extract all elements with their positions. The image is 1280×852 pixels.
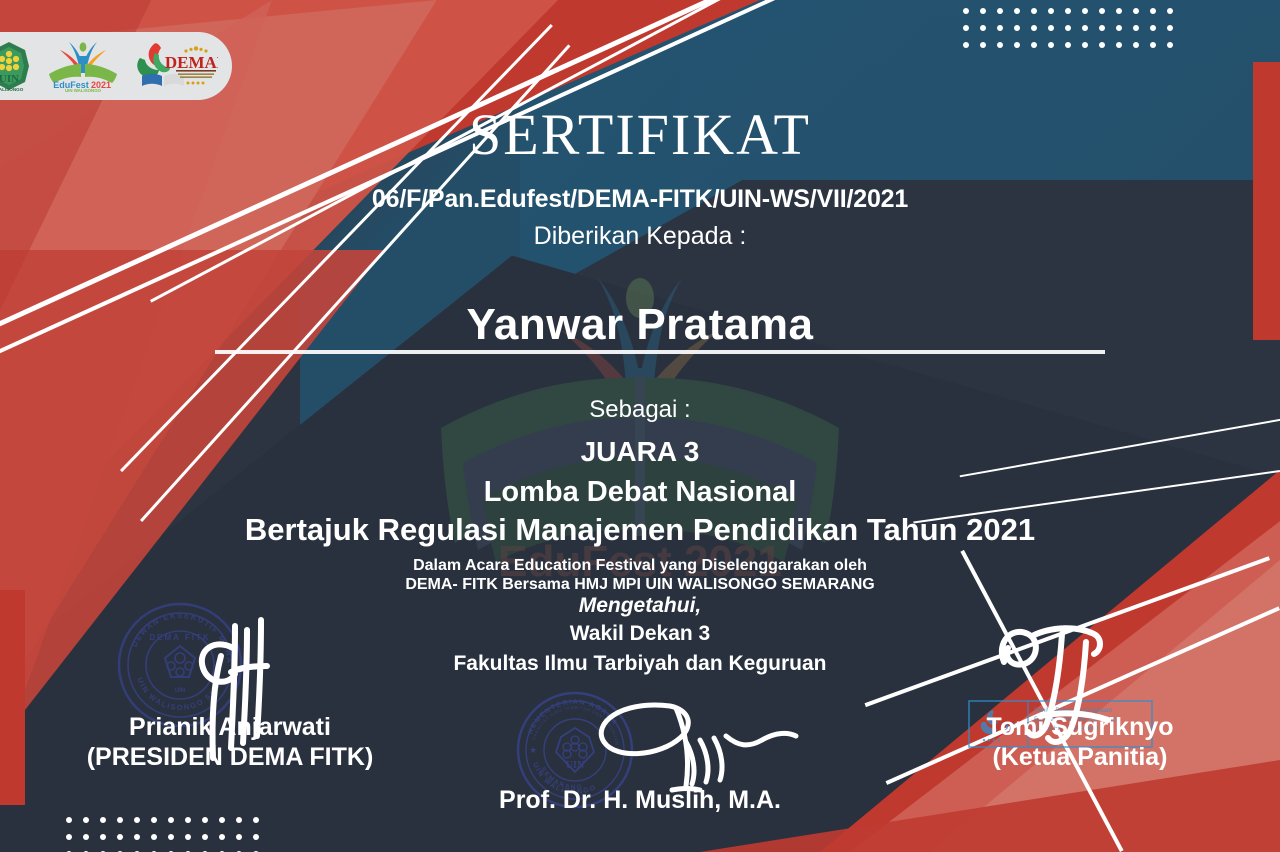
decor-dot xyxy=(66,834,72,840)
decor-dot xyxy=(134,817,140,823)
decor-dot xyxy=(1065,42,1071,48)
decor-dot xyxy=(980,8,986,14)
decor-dot xyxy=(1167,25,1173,31)
decor-dot xyxy=(83,817,89,823)
decor-dot xyxy=(963,25,969,31)
decor-dot xyxy=(219,817,225,823)
decor-dot xyxy=(1133,42,1139,48)
decor-dot xyxy=(997,42,1003,48)
decor-dot xyxy=(1065,25,1071,31)
dot-grid-bottom-left xyxy=(66,817,259,852)
decor-dot xyxy=(185,817,191,823)
decor-dot xyxy=(1116,42,1122,48)
uin-walisongo-logo: UIN WALISONGO xyxy=(0,39,36,93)
decor-dot xyxy=(1014,25,1020,31)
decor-dot xyxy=(117,834,123,840)
decor-dot xyxy=(134,834,140,840)
decor-dot xyxy=(253,834,259,840)
uin-walisongo-logo-caption: WALISONGO xyxy=(0,87,24,92)
signature-role-left: (PRESIDEN DEMA FITK) xyxy=(30,742,430,772)
decor-dot xyxy=(1048,42,1054,48)
decor-dot xyxy=(202,817,208,823)
decor-dot xyxy=(1167,8,1173,14)
decor-dot xyxy=(1082,42,1088,48)
dema-fitk-logo-caption: DEMAF xyxy=(165,53,218,72)
decor-dot xyxy=(1150,42,1156,48)
certificate-number: 06/F/Pan.Edufest/DEMA-FITK/UIN-WS/VII/20… xyxy=(0,185,1280,214)
decor-dot xyxy=(980,25,986,31)
signature-block-left: Prianik Anjarwati (PRESIDEN DEMA FITK) xyxy=(30,712,430,772)
decor-dot xyxy=(1099,25,1105,31)
decor-dot xyxy=(997,25,1003,31)
decor-dot xyxy=(1082,25,1088,31)
decor-dot xyxy=(253,817,259,823)
logo-bar: UIN WALISONGO EduFest 2021 UIN WALISONGO xyxy=(0,32,232,100)
dot-grid-top-right xyxy=(963,8,1173,48)
signature-name-left: Prianik Anjarwati xyxy=(30,712,430,742)
decor-dot xyxy=(1031,8,1037,14)
award-rank: JUARA 3 xyxy=(0,436,1280,468)
faculty-name: Fakultas Ilmu Tarbiyah dan Keguruan xyxy=(0,652,1280,676)
decor-dot xyxy=(1167,42,1173,48)
signature-name-center: Prof. Dr. H. Muslih, M.A. xyxy=(440,785,840,815)
edufest-logo-subcaption: UIN WALISONGO xyxy=(65,88,102,92)
dema-fitk-logo: DEMAF xyxy=(130,40,218,92)
decor-dot xyxy=(1116,25,1122,31)
decor-dot xyxy=(1150,8,1156,14)
decor-dot xyxy=(100,834,106,840)
signature-name-right: Tomi Sugriknyo xyxy=(880,712,1280,742)
signature-block-right: Tomi Sugriknyo (Ketua Panitia) xyxy=(880,712,1280,772)
organizer-line-1: Dalam Acara Education Festival yang Dise… xyxy=(0,557,1280,575)
decor-dot xyxy=(117,817,123,823)
dean-title: Wakil Dekan 3 xyxy=(0,622,1280,646)
as-label: Sebagai : xyxy=(0,396,1280,424)
edufest-logo: EduFest 2021 UIN WALISONGO xyxy=(46,40,120,92)
competition-subtitle: Bertajuk Regulasi Manajemen Pendidikan T… xyxy=(0,512,1280,548)
decor-dot xyxy=(100,817,106,823)
competition-name: Lomba Debat Nasional xyxy=(0,476,1280,509)
knowing-label: Mengetahui, xyxy=(0,594,1280,618)
signature-block-center: Prof. Dr. H. Muslih, M.A. xyxy=(440,785,840,815)
decor-dot xyxy=(83,834,89,840)
certificate-canvas: EduFest 2021 UIN WALISONGO EduFest 202 xyxy=(0,0,1280,852)
decor-dot xyxy=(1014,42,1020,48)
decor-dot xyxy=(997,8,1003,14)
svg-text:UIN: UIN xyxy=(0,73,19,85)
decor-dot xyxy=(1014,8,1020,14)
decor-dot xyxy=(66,817,72,823)
decor-dot xyxy=(963,8,969,14)
decor-dot xyxy=(185,834,191,840)
decor-dot xyxy=(236,834,242,840)
decor-dot xyxy=(963,42,969,48)
decor-dot xyxy=(219,834,225,840)
decor-dot xyxy=(1133,25,1139,31)
certificate-title: SERTIFIKAT xyxy=(0,106,1280,164)
divider-rule xyxy=(215,350,1105,354)
decor-dot xyxy=(1150,25,1156,31)
recipient-name: Yanwar Pratama xyxy=(0,300,1280,350)
decor-dot xyxy=(1031,25,1037,31)
decor-dot xyxy=(1116,8,1122,14)
signature-role-right: (Ketua Panitia) xyxy=(880,742,1280,772)
decor-dot xyxy=(1099,42,1105,48)
decor-dot xyxy=(1048,8,1054,14)
decor-dot xyxy=(151,834,157,840)
decor-dot xyxy=(1099,8,1105,14)
decor-dot xyxy=(236,817,242,823)
decor-dot xyxy=(168,817,174,823)
given-to-label: Diberikan Kepada : xyxy=(0,222,1280,251)
decor-dot xyxy=(1065,8,1071,14)
decor-dot xyxy=(980,42,986,48)
organizer-line-2: DEMA- FITK Bersama HMJ MPI UIN WALISONGO… xyxy=(0,576,1280,594)
decor-dot xyxy=(151,817,157,823)
decor-dot xyxy=(202,834,208,840)
decor-dot xyxy=(1048,25,1054,31)
decor-dot xyxy=(1082,8,1088,14)
decor-dot xyxy=(1031,42,1037,48)
decor-dot xyxy=(1133,8,1139,14)
decor-dot xyxy=(168,834,174,840)
